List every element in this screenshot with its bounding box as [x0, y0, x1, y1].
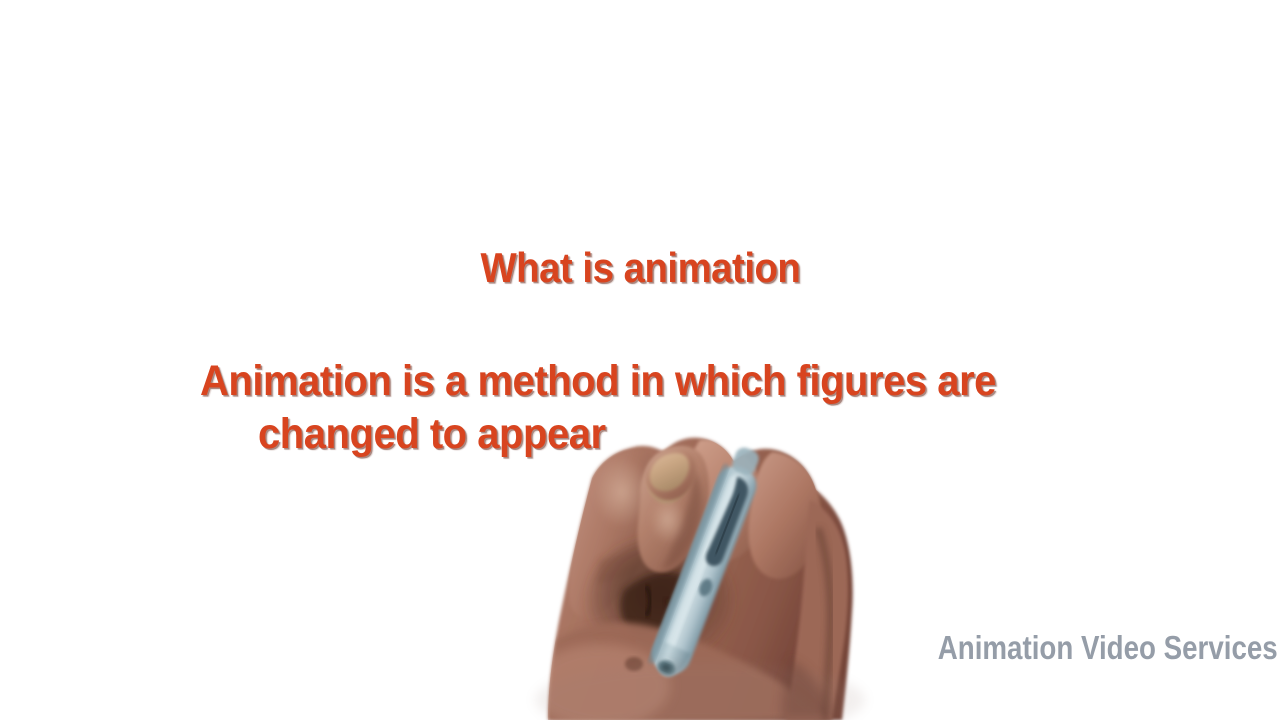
pen-end-opening-inner — [661, 663, 672, 673]
slide-headline-text: What is animation — [480, 245, 800, 291]
hand-body — [548, 438, 853, 720]
palm-heel-highlight — [530, 644, 670, 720]
pinky-side-fold — [786, 500, 848, 720]
thumb-nail-edge — [650, 454, 678, 480]
middle-knuckle — [682, 440, 766, 562]
thumb-highlight — [650, 496, 686, 544]
video-frame: What is animation Animation is a method … — [0, 0, 1280, 720]
slide-body-line-1: Animation is a method in which figures a… — [200, 358, 1056, 404]
palm-heel — [548, 623, 824, 720]
palm-shadow — [588, 538, 732, 662]
hand-group — [530, 438, 853, 720]
index-finger-highlight — [594, 456, 650, 528]
pen-barrel-highlight — [661, 474, 740, 660]
pen-barrel — [646, 461, 761, 679]
skin-mark-2 — [641, 654, 651, 662]
pen-end-opening — [655, 658, 677, 678]
hand-outer-crease — [818, 528, 831, 720]
pen-barrel-left-shade — [647, 463, 730, 665]
pen-vent-hole — [697, 577, 715, 598]
hand-contact-shadow — [535, 662, 865, 720]
grip-fold-line-1 — [646, 586, 651, 616]
pen-clip — [703, 476, 752, 569]
grip-fold-line-2 — [666, 600, 684, 620]
pen-group — [645, 442, 769, 682]
skin-mark — [625, 657, 643, 671]
grip-fold-shadow — [620, 572, 694, 634]
pen-cap-end — [647, 639, 692, 682]
thumb-tip-nail — [650, 453, 689, 491]
slide-body-line-2: changed to appear — [258, 411, 632, 457]
index-finger — [569, 450, 664, 618]
slide-headline: What is animation — [19, 245, 1261, 291]
ring-knuckle — [749, 452, 821, 579]
pen-nib — [730, 445, 762, 478]
slide-body-line-2-text: changed to appear — [258, 411, 606, 457]
pen-clip-core — [715, 494, 739, 554]
watermark: Animation Video Services — [873, 628, 1278, 668]
watermark-text: Animation Video Services — [938, 628, 1278, 668]
thumb-nail — [648, 452, 694, 504]
thumb-tip-overlap — [646, 448, 697, 500]
hand-bottom-right-shadow — [782, 660, 834, 720]
index-knuckle — [596, 544, 648, 584]
slide-body-line-1-text: Animation is a method in which figures a… — [200, 358, 996, 404]
thumb — [638, 446, 709, 572]
thumb-shadow — [662, 470, 702, 570]
